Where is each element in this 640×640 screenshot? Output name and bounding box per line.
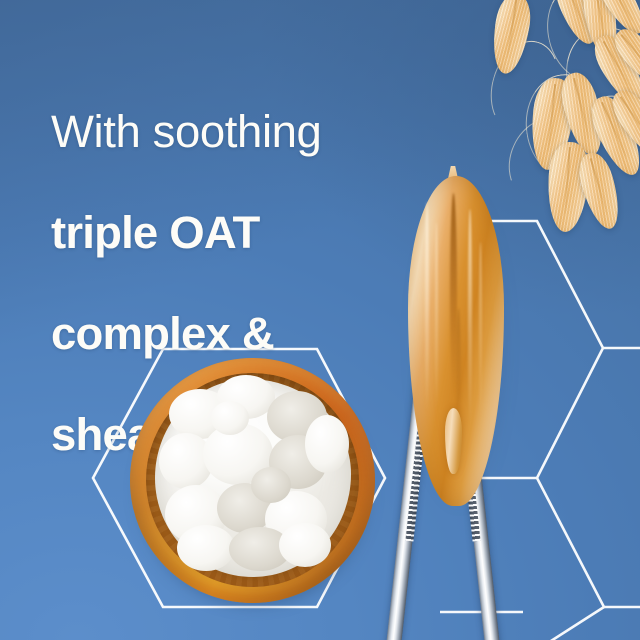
oat-spikelet-cluster <box>474 0 640 196</box>
headline-line-1: With soothing <box>51 107 431 158</box>
headline-line-2: triple OAT <box>51 208 431 259</box>
shea-butter-mass <box>155 379 351 577</box>
promo-image-canvas: With soothing triple OAT complex & shea … <box>0 0 640 640</box>
oat-grain-specimen <box>408 176 504 506</box>
wooden-bowl-of-shea-butter <box>130 358 375 603</box>
